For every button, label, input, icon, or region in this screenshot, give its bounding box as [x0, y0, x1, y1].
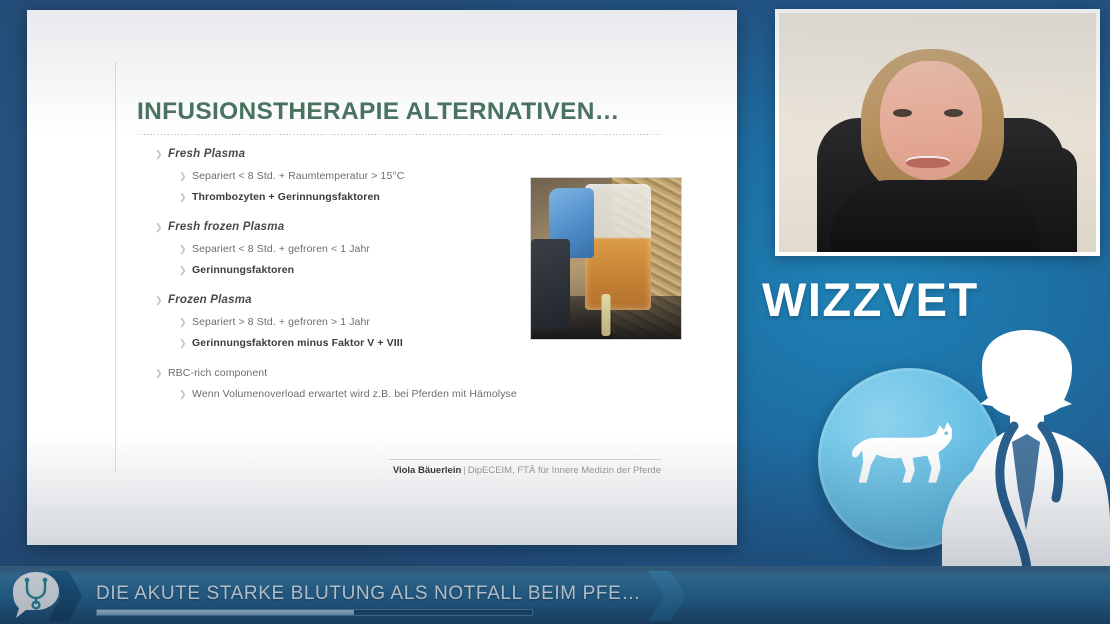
presenter-mouth	[906, 156, 950, 168]
chevron-right-icon: ❯	[179, 266, 192, 275]
presenter-torso	[830, 180, 1039, 252]
title-divider	[137, 134, 661, 135]
bullet-item: ❯ Separiert < 8 Std. + Raumtemperatur > …	[137, 170, 517, 182]
presenter-name: Viola Bäuerlein	[393, 465, 461, 476]
chevron-right-icon: ❯	[179, 172, 192, 181]
presentation-slide: INFUSIONSTHERAPIE ALTERNATIVEN… ❯ Fresh …	[27, 10, 737, 545]
bullet-heading: ❯ RBC-rich component	[137, 367, 517, 379]
chevron-right-icon: ❯	[155, 223, 168, 232]
stethoscope-speech-bubble-icon	[10, 570, 62, 620]
bullet-heading: ❯ Fresh frozen Plasma	[137, 221, 517, 233]
bullet-item: ❯ Gerinnungsfaktoren	[137, 264, 517, 276]
slide-accent-line	[115, 62, 116, 472]
wizzvet-wordmark: WIZZVET	[762, 272, 979, 327]
video-player-stage: INFUSIONSTHERAPIE ALTERNATIVEN… ❯ Fresh …	[0, 0, 1110, 624]
presenter-webcam[interactable]	[775, 9, 1100, 256]
photo-sleeve	[531, 239, 570, 329]
presenter-eye-right	[944, 109, 963, 117]
chevron-right-icon: ❯	[179, 318, 192, 327]
playback-progress-fill	[97, 610, 354, 615]
bullet-group: ❯ RBC-rich component ❯ Wenn Volumenoverl…	[137, 367, 517, 400]
slide-title: INFUSIONSTHERAPIE ALTERNATIVEN…	[137, 98, 620, 126]
chevron-right-icon: ❯	[155, 296, 168, 305]
bullet-group: ❯ Frozen Plasma ❯ Separiert > 8 Std. + g…	[137, 294, 517, 349]
photo-bag-tube	[602, 294, 611, 336]
lecture-title: DIE AKUTE STARKE BLUTUNG ALS NOTFALL BEI…	[96, 583, 641, 605]
slide-footer-credit: Viola Bäuerlein|DipECEIM, FTÄ für Innere…	[389, 465, 661, 476]
presenter-role: DipECEIM, FTÄ für Innere Medizin der Pfe…	[468, 465, 661, 476]
playback-progress-bar[interactable]	[96, 609, 533, 616]
chevron-right-icon: ❯	[155, 369, 168, 378]
chevron-right-icon: ❯	[155, 150, 168, 159]
photo-plasma-bag	[585, 184, 651, 310]
chevron-right-icon: ❯	[179, 245, 192, 254]
bullet-item: ❯ Separiert > 8 Std. + gefroren > 1 Jahr	[137, 316, 517, 328]
chevron-right-icon: ❯	[179, 339, 192, 348]
wizzvet-logo-button[interactable]	[10, 570, 62, 620]
webcam-video-feed	[779, 13, 1096, 252]
bullet-item: ❯ Wenn Volumenoverload erwartet wird z.B…	[137, 388, 517, 400]
bullet-heading: ❯ Frozen Plasma	[137, 294, 517, 306]
presenter-eye-left	[893, 109, 912, 117]
bullet-item: ❯ Gerinnungsfaktoren minus Faktor V + VI…	[137, 337, 517, 349]
plasma-bag-photo	[530, 177, 682, 340]
chevron-right-icon: ❯	[179, 193, 192, 202]
slide-bullet-list: ❯ Fresh Plasma ❯ Separiert < 8 Std. + Ra…	[137, 148, 517, 412]
bullet-item: ❯ Thrombozyten + Gerinnungsfaktoren	[137, 191, 517, 203]
bullet-item: ❯ Separiert < 8 Std. + gefroren < 1 Jahr	[137, 243, 517, 255]
footer-divider	[389, 459, 661, 460]
bullet-group: ❯ Fresh Plasma ❯ Separiert < 8 Std. + Ra…	[137, 148, 517, 203]
chevron-right-icon: ❯	[179, 390, 192, 399]
bullet-group: ❯ Fresh frozen Plasma ❯ Separiert < 8 St…	[137, 221, 517, 276]
bullet-heading: ❯ Fresh Plasma	[137, 148, 517, 160]
